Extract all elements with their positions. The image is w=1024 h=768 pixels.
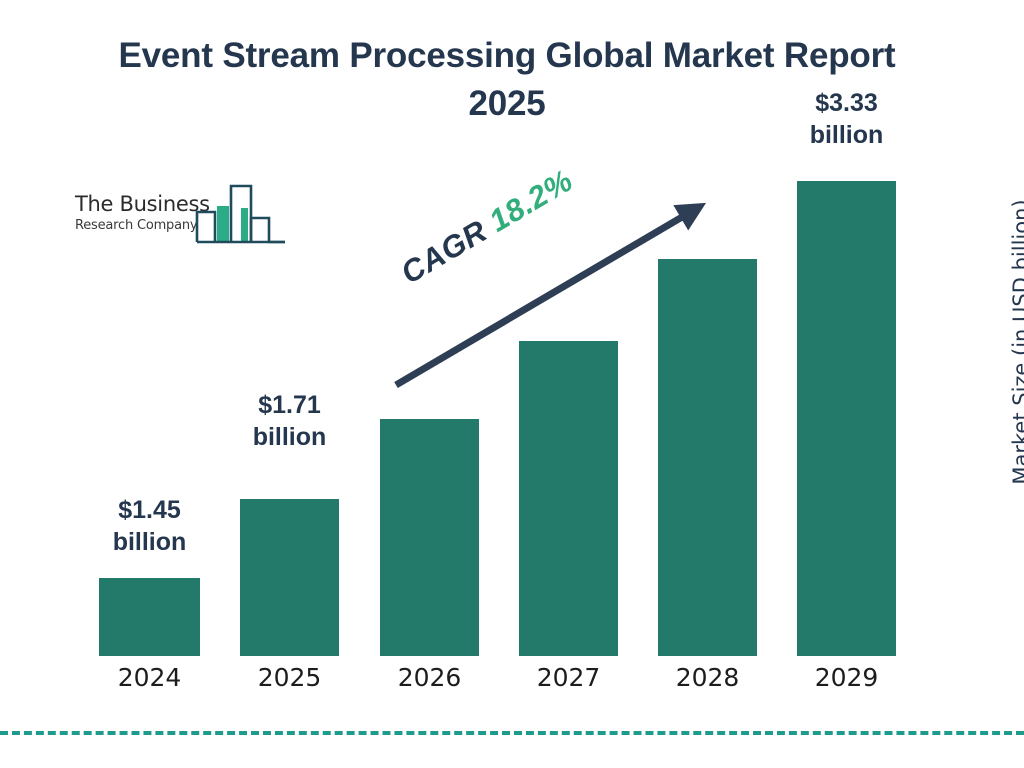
bar-2029[interactable] [797, 181, 896, 656]
cagr-value: 18.2% [483, 163, 579, 239]
x-tick-label-2024: 2024 [79, 663, 220, 692]
bar-2026[interactable] [380, 419, 479, 656]
bar-value-label-2025-amount: $1.71 [219, 390, 360, 422]
plot-area: $1.45 billion $1.71 billion $3.33 billio… [0, 0, 1024, 768]
chart-canvas: Event Stream Processing Global Market Re… [0, 0, 1024, 768]
y-axis-title: Market Size (in USD billion) [1009, 177, 1024, 507]
x-tick-label-2029: 2029 [776, 663, 917, 692]
bar-value-label-2029-amount: $3.33 [776, 88, 917, 120]
bar-value-label-2029: $3.33 billion [776, 88, 917, 151]
bar-value-label-2024-amount: $1.45 [79, 495, 220, 527]
x-tick-label-2025: 2025 [219, 663, 360, 692]
x-tick-label-2027: 2027 [498, 663, 639, 692]
bar-2024[interactable] [99, 578, 200, 656]
bar-2025[interactable] [240, 499, 339, 656]
footer-divider [0, 731, 1024, 735]
cagr-label: CAGR [395, 213, 493, 291]
bar-value-label-2025: $1.71 billion [219, 390, 360, 453]
bar-value-label-2029-unit: billion [776, 120, 917, 152]
bar-2028[interactable] [658, 259, 757, 656]
bar-value-label-2024: $1.45 billion [79, 495, 220, 558]
bar-2027[interactable] [519, 341, 618, 656]
bar-value-label-2024-unit: billion [79, 527, 220, 559]
x-tick-label-2026: 2026 [359, 663, 500, 692]
x-tick-label-2028: 2028 [637, 663, 778, 692]
bar-value-label-2025-unit: billion [219, 422, 360, 454]
cagr-annotation: CAGR 18.2% [395, 163, 579, 292]
